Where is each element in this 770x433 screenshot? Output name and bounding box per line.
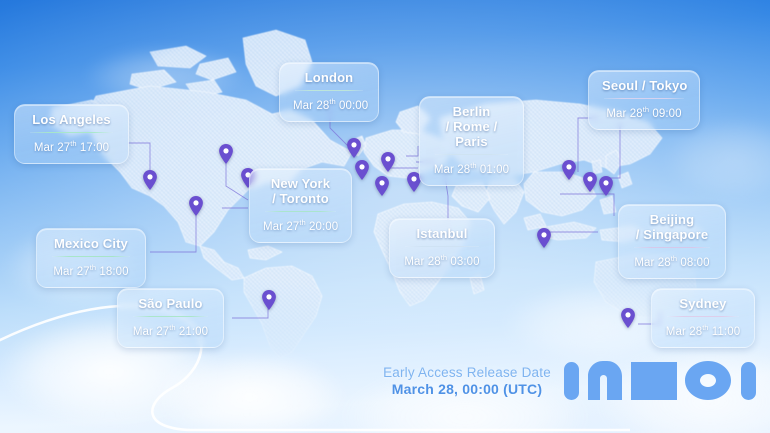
timezone-card-mexico-city[interactable]: Mexico City Mar 27th 18:00: [36, 228, 146, 288]
map-pin-paris[interactable]: [355, 160, 370, 180]
promo-banner: Los Angeles Mar 27th 17:00 London Mar 28…: [0, 0, 770, 433]
card-divider: [133, 316, 208, 317]
card-time-label: Mar 28th 00:00: [293, 95, 365, 113]
timezone-card-beijing-singapore[interactable]: Beijing / Singapore Mar 28th 08:00: [618, 204, 726, 279]
card-city-label: New York / Toronto: [263, 176, 338, 206]
card-city-label: Sydney: [665, 296, 741, 311]
card-divider: [435, 154, 508, 155]
map-pin-london[interactable]: [347, 138, 362, 158]
card-city-label: Berlin / Rome / Paris: [433, 104, 510, 149]
card-time-label: Mar 28th 09:00: [602, 103, 686, 121]
card-time-label: Mar 28th 03:00: [403, 251, 481, 269]
release-date-value: March 28, 00:00 (UTC): [372, 381, 562, 398]
map-pin-seoul[interactable]: [583, 172, 598, 192]
card-city-label: São Paulo: [131, 296, 210, 311]
card-divider: [634, 247, 710, 248]
map-pin-singapore[interactable]: [537, 228, 552, 248]
card-city-label: Seoul / Tokyo: [602, 78, 686, 93]
inzoi-logo: [562, 352, 762, 410]
map-pin-mexico-city[interactable]: [189, 196, 204, 216]
card-time-label: Mar 27th 21:00: [131, 321, 210, 339]
timezone-card-los-angeles[interactable]: Los Angeles Mar 27th 17:00: [14, 104, 129, 164]
card-city-label: Los Angeles: [28, 112, 115, 127]
release-date-footer: Early Access Release Date March 28, 00:0…: [372, 364, 562, 398]
map-pin-beijing[interactable]: [562, 160, 577, 180]
card-time-label: Mar 27th 20:00: [263, 216, 338, 234]
card-city-label: Istanbul: [403, 226, 481, 241]
card-time-label: Mar 27th 18:00: [50, 261, 132, 279]
card-time-label: Mar 28th 01:00: [433, 159, 510, 177]
card-time-label: Mar 28th 08:00: [632, 252, 712, 270]
timezone-card-sydney[interactable]: Sydney Mar 28th 11:00: [651, 288, 755, 348]
card-divider: [295, 90, 363, 91]
release-date-caption: Early Access Release Date: [372, 364, 562, 381]
card-divider: [30, 132, 113, 133]
card-time-label: Mar 27th 17:00: [28, 137, 115, 155]
map-pin-rome[interactable]: [375, 176, 390, 196]
map-pin-sao-paulo[interactable]: [262, 290, 277, 310]
map-pin-los-angeles[interactable]: [143, 170, 158, 190]
map-pin-tokyo[interactable]: [599, 176, 614, 196]
timezone-card-new-york-toronto[interactable]: New York / Toronto Mar 27th 20:00: [249, 168, 352, 243]
map-pin-berlin[interactable]: [381, 152, 396, 172]
timezone-card-seoul-tokyo[interactable]: Seoul / Tokyo Mar 28th 09:00: [588, 70, 700, 130]
card-divider: [667, 316, 739, 317]
card-time-label: Mar 28th 11:00: [665, 321, 741, 339]
timezone-card-sao-paulo[interactable]: São Paulo Mar 27th 21:00: [117, 288, 224, 348]
card-divider: [265, 211, 336, 212]
card-city-label: Mexico City: [50, 236, 132, 251]
timezone-card-berlin-rome-paris[interactable]: Berlin / Rome / Paris Mar 28th 01:00: [419, 96, 524, 186]
timezone-card-istanbul[interactable]: Istanbul Mar 28th 03:00: [389, 218, 495, 278]
card-divider: [52, 256, 130, 257]
map-pin-sydney[interactable]: [621, 308, 636, 328]
timezone-card-london[interactable]: London Mar 28th 00:00: [279, 62, 379, 122]
card-divider: [405, 246, 479, 247]
card-divider: [604, 98, 684, 99]
card-city-label: London: [293, 70, 365, 85]
map-pin-toronto[interactable]: [219, 144, 234, 164]
card-city-label: Beijing / Singapore: [632, 212, 712, 242]
